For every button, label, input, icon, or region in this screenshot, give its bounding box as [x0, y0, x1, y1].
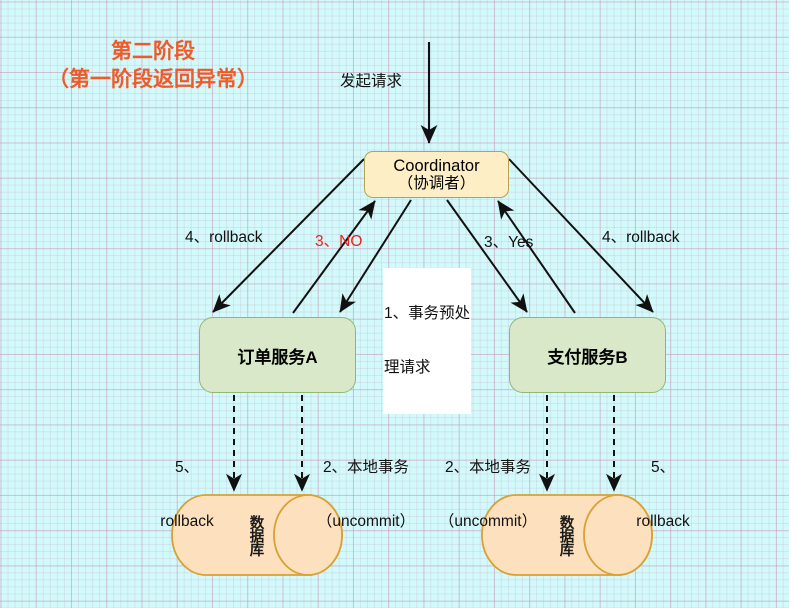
label-b-local2-line-2: （uncommit） [432, 513, 544, 531]
label-left-no3: 3、NO [315, 233, 362, 251]
label-a-rollback5-line-2: rollback [148, 513, 226, 531]
label-a-local2: 2、本地事务 （uncommit） [310, 422, 422, 568]
label-b-local2: 2、本地事务 （uncommit） [432, 422, 544, 568]
label-left-rollback4: 4、rollback [185, 229, 263, 247]
diagram-canvas: 第二阶段 （第一阶段返回异常） [0, 0, 789, 608]
label-prepare-line-1: 1、事务预处 [384, 305, 470, 323]
label-a-rollback5-line-1: 5、 [148, 459, 226, 477]
label-prepare-line-2: 理请求 [384, 359, 470, 377]
label-right-rollback4: 4、rollback [602, 229, 680, 247]
node-coordinator[interactable]: Coordinator （协调者） [364, 151, 509, 198]
label-prepare-1: 1、事务预处 理请求 [383, 268, 471, 414]
label-request: 发起请求 [340, 73, 402, 91]
label-b-rollback5-line-1: 5、 [624, 459, 702, 477]
service-a-label: 订单服务A [237, 343, 317, 368]
label-right-yes3: 3、Yes [484, 234, 533, 252]
service-b-label: 支付服务B [547, 343, 627, 368]
label-a-rollback5: 5、 rollback [148, 422, 226, 568]
label-b-rollback5-line-2: rollback [624, 513, 702, 531]
label-b-local2-line-1: 2、本地事务 [432, 459, 544, 477]
label-a-local2-line-1: 2、本地事务 [310, 459, 422, 477]
coordinator-subtitle: （协调者） [398, 175, 476, 192]
label-a-local2-line-2: （uncommit） [310, 513, 422, 531]
label-b-rollback5: 5、 rollback [624, 422, 702, 568]
node-service-a[interactable]: 订单服务A [199, 317, 356, 393]
node-service-b[interactable]: 支付服务B [509, 317, 666, 393]
coordinator-title: Coordinator [393, 157, 479, 175]
